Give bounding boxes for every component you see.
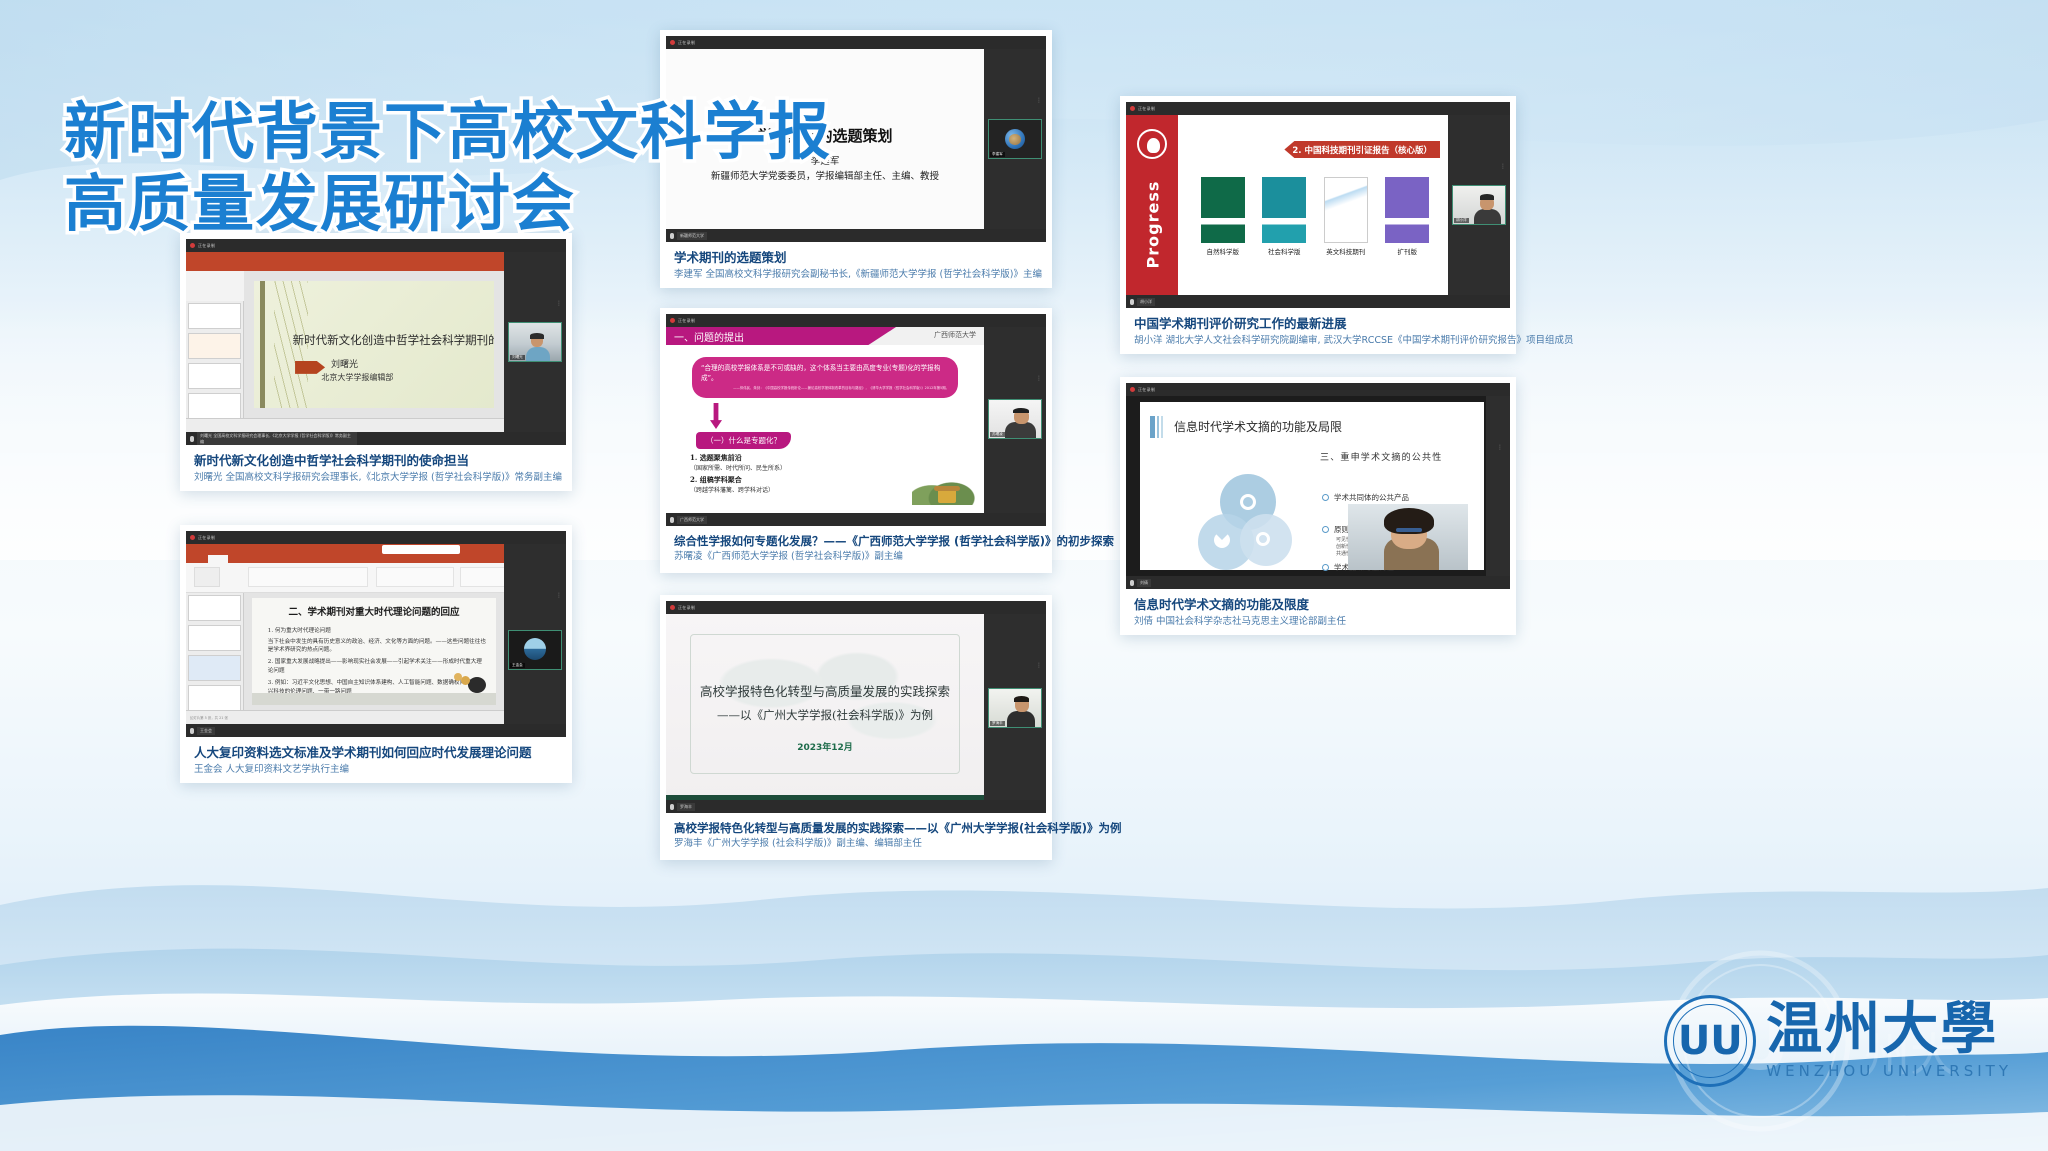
radio-icon [1322,494,1329,501]
ppt-ime-toolbar [382,545,460,554]
shared-screen-1: 新时代新文化创造中哲学社会科学期刊的使命担当 刘曙光 北京大学学报编辑部 [186,252,504,432]
participant-panel-2[interactable]: ⋮ 李建军 [984,49,1046,229]
person-body [1474,209,1501,224]
avatar [1005,129,1025,149]
host-chip-4: 广西师范大学 [677,516,707,524]
participant-tile-7[interactable]: 罗海丰 [988,688,1042,728]
slide-heading-3: 2. 中国科技期刊引证报告（核心版） [1284,141,1440,158]
card-title-1: 新时代新文化创造中哲学社会科学期刊的使命担当 [194,453,558,469]
card-subtitle-7: 罗海丰《广州大学学报 (社会科学版)》副主编、编辑部主任 [674,838,1038,851]
logo-text-block: 温州大學 WENZHOU UNIVERSITY [1766,1002,2012,1080]
host-chip-5: 刘倩 [1137,579,1151,587]
ppt-slide-canvas-1: 新时代新文化创造中哲学社会科学期刊的使命担当 刘曙光 北京大学学报编辑部 [244,271,504,418]
shared-screen-4: 一、问题的提出 广西师范大学 “合理的高校学报体系是不可或缺的，这个体系当主要由… [666,327,984,513]
ppt-thumb[interactable] [188,333,241,359]
powerpoint-window-6: 二、学术期刊对重大时代理论问题的回应 1. 何为重大时代理论问题 当下社会中发生… [186,544,504,724]
recording-dot-icon [670,605,675,610]
seal-initials: UU [1678,1021,1743,1061]
participant-name-6: 王金会 [510,663,525,668]
session-card-7[interactable]: 正在录制 高校学报特色化转型与高质量发展的实践探索 ——以《广州大学学报(社会科… [660,595,1052,860]
bullet-text: 当下社会中发生的具有历史意义的政治、经济、文化等方面的问题。——这些问题往往也是… [268,638,486,655]
zoom-screenshot-7[interactable]: 正在录制 高校学报特色化转型与高质量发展的实践探索 ——以《广州大学学报(社会科… [666,601,1046,813]
zoom-stage: 高校学报特色化转型与高质量发展的实践探索 ——以《广州大学学报(社会科学版)》为… [666,614,1046,800]
microphone-icon [1130,580,1134,586]
card-caption-4: 综合性学报如何专题化发展？——《广西师范大学学报 (哲学社会科学版)》的初步探索… [666,526,1046,574]
shared-screen-7: 高校学报特色化转型与高质量发展的实践探索 ——以《广州大学学报(社会科学版)》为… [666,614,984,800]
recording-dot-icon [190,243,195,248]
shared-screen-3: Progress 2. 中国科技期刊引证报告（核心版） 自然科学版 社会科学版 [1126,115,1448,295]
session-card-3[interactable]: 正在录制 Progress 2. 中国科技期刊引证报告（核心版） 自然科 [1120,96,1516,354]
host-chip-3: 胡小洋 [1137,298,1155,306]
ppt-status-text: 幻灯片第 5 张，共 21 张 [190,715,228,720]
bullet-1: 学术共同体的公共产品 [1322,492,1409,503]
card-caption-7: 高校学报特色化转型与高质量发展的实践探索——以《广州大学学报(社会科学版)》为例… [666,813,1046,861]
journal-covers: 自然科学版 社会科学版 英文科技期刊 扩刊版 [1192,177,1438,256]
zoom-stage: Progress 2. 中国科技期刊引证报告（核心版） 自然科学版 社会科学版 [1126,115,1510,295]
bullet-text: 1. 何为重大时代理论问题 [268,626,486,634]
ppt-thumb[interactable] [188,655,241,681]
zoom-screenshot-6[interactable]: 正在录制 [186,531,566,737]
card-subtitle-6: 王金会 人大复印资料文艺学执行主编 [194,764,558,777]
journal-label: 社会科学版 [1262,246,1306,256]
recording-label: 正在录制 [1138,387,1155,393]
slide-subheading-7: ——以《广州大学学报(社会科学版)》为例 [666,707,984,723]
ppt-slide-canvas-6: 二、学术期刊对重大时代理论问题的回应 1. 何为重大时代理论问题 当下社会中发生… [244,593,504,710]
more-options-icon[interactable]: ⋮ [1497,444,1503,451]
pavilion-illustration [912,471,978,505]
card-subtitle-3: 胡小洋 湖北大学人文社会科学研究院副编审, 武汉大学RCCSE《中国学术期刊评价… [1134,335,1502,348]
title-line-1: 新时代背景下高校文科学报 [64,96,832,168]
recording-label: 正在录制 [678,605,695,611]
more-options-icon[interactable]: ⋮ [1036,375,1042,382]
session-card-5[interactable]: 正在录制 信息时代学术文摘的功能及局限 三、重申学术文摘的公共性 [1120,377,1516,635]
more-options-icon[interactable]: ⋮ [556,300,562,307]
participant-tile-1[interactable]: 刘曙光 [508,322,562,362]
ppt-ribbon-tabs[interactable] [186,555,504,563]
recording-dot-icon [190,535,195,540]
zoom-recording-bar: 正在录制 [666,36,1046,49]
card-subtitle-4: 苏曙凌《广西师范大学学报 (哲学社会科学版)》副主编 [674,551,1038,564]
card-caption-6: 人大复印资料选文标准及学术期刊如何回应时代发展理论问题 王金会 人大复印资料文艺… [186,737,566,786]
participant-name-4: 苏曙凌 [990,432,1005,437]
ppt-titlebar [186,252,504,263]
slide-speaker-1: 刘曙光 [331,357,358,370]
university-name-en: WENZHOU UNIVERSITY [1766,1062,2012,1080]
participant-tile-2[interactable]: 李建军 [988,119,1042,159]
point-label: 1. 选题聚焦前沿 [690,453,786,463]
card-caption-3: 中国学术期刊评价研究工作的最新进展 胡小洋 湖北大学人文社会科学研究院副编审, … [1126,308,1510,357]
participant-panel-1[interactable]: ⋮ 刘曙光 [504,252,566,432]
gear-icon [1240,494,1256,510]
magenta-slide-4: 一、问题的提出 广西师范大学 “合理的高校学报体系是不可或缺的，这个体系当主要由… [666,327,984,513]
slide-quote-4: “合理的高校学报体系是不可或缺的，这个体系当主要由高度专业(专题)化的学报构成”… [692,357,958,398]
journal-label: 英文科技期刊 [1324,246,1368,256]
shared-screen-6: 二、学术期刊对重大时代理论问题的回应 1. 何为重大时代理论问题 当下社会中发生… [186,544,504,724]
card-title-3: 中国学术期刊评价研究工作的最新进展 [1134,316,1502,332]
zoom-bottom-bar-6: 王金会 [186,724,566,737]
card-subtitle-5: 刘倩 中国社会科学杂志社马克思主义理论部副主任 [1134,616,1502,629]
zoom-screenshot-1[interactable]: 正在录制 [186,239,566,445]
ppt-thumb[interactable] [188,363,241,389]
zoom-screenshot-3[interactable]: 正在录制 Progress 2. 中国科技期刊引证报告（核心版） 自然科 [1126,102,1510,308]
microphone-icon [670,804,674,810]
zoom-recording-bar: 正在录制 [186,239,566,252]
map-title-slide-7: 高校学报特色化转型与高质量发展的实践探索 ——以《广州大学学报(社会科学版)》为… [666,614,984,800]
microphone-icon [670,517,674,523]
participant-name-3: 胡小洋 [1454,218,1469,223]
participant-panel-3[interactable]: ⋮ 胡小洋 [1448,115,1510,295]
zoom-recording-bar: 正在录制 [1126,383,1510,396]
journal-cover: 自然科学版 [1201,177,1245,256]
microphone-icon [190,728,194,734]
avatar [524,638,546,660]
bullet-text: 学术共同体的公共产品 [1334,492,1409,503]
blue-slide-5: 信息时代学术文摘的功能及局限 三、重申学术文摘的公共性 学术共同体的公共产品 [1140,402,1484,570]
point-label: 2. 组稿学科聚合 [690,475,774,485]
ppt-ribbon[interactable] [186,563,504,593]
zoom-stage: 二、学术期刊对重大时代理论问题的回应 1. 何为重大时代理论问题 当下社会中发生… [186,544,566,724]
venn-illustration [1198,474,1288,564]
card-title-7: 高校学报特色化转型与高质量发展的实践探索——以《广州大学学报(社会科学版)》为例 [674,821,1038,835]
session-card-1[interactable]: 正在录制 [180,233,572,491]
slide-heading-4: 一、问题的提出 [666,327,896,345]
slide-point-1: 1. 选题聚焦前沿 （国家所需、时代所问、民生所系） [690,453,786,472]
person-body [1007,711,1035,727]
ppt-titlebar [186,544,504,555]
recording-label: 正在录制 [198,535,215,541]
recording-dot-icon [1130,387,1135,392]
more-options-icon[interactable]: ⋮ [1036,97,1042,104]
slide-affiliation-1: 北京大学学报编辑部 [321,372,393,383]
poster-title: 新时代背景下高校文科学报 高质量发展研讨会 [64,96,832,240]
slide-heading-6: 二、学术期刊对重大时代理论问题的回应 [252,604,496,618]
slide-point-2: 2. 组稿学科聚合 （跨越学科藩篱、跨学科对话） [690,475,774,494]
wenzhou-university-logo: UU 温州大學 WENZHOU UNIVERSITY [1664,995,2012,1087]
journal-label: 自然科学版 [1201,246,1245,256]
ppt-thumb[interactable] [188,625,241,651]
participant-name-1: 刘曙光 [510,355,525,360]
zoom-bottom-bar-7: 罗海丰 [666,800,1046,813]
zoom-recording-bar: 正在录制 [186,531,566,544]
slide-subheading-4: （一）什么是专题化？ [696,432,791,449]
university-logo-4: 广西师范大学 [934,330,976,340]
card-title-5: 信息时代学术文摘的功能及限度 [1134,597,1502,613]
gear-icon [1256,532,1270,546]
more-options-icon[interactable]: ⋮ [1036,662,1042,669]
journal-label: 扩刊版 [1385,246,1429,256]
shared-screen-5: 信息时代学术文摘的功能及局限 三、重申学术文摘的公共性 学术共同体的公共产品 [1126,396,1486,576]
recording-label: 正在录制 [1138,106,1155,112]
title-line-2: 高质量发展研讨会 [64,168,832,240]
progress-label: Progress [1144,170,1163,280]
slide-section-5: 三、重申学术文摘的公共性 [1320,450,1442,463]
card-caption-2: 学术期刊的选题策划 李建军 全国高校文科学报研究会副秘书长,《新疆师范大学学报 … [666,242,1046,291]
participant-panel-7[interactable]: ⋮ 罗海丰 [984,614,1046,800]
quote-text: “合理的高校学报体系是不可或缺的，这个体系当主要由高度专业(专题)化的学报构成”… [701,364,949,383]
teapot-illustration [452,671,486,693]
recording-dot-icon [1130,106,1135,111]
journal-cover: 社会科学版 [1262,177,1306,256]
zoom-stage: 信息时代学术文摘的功能及局限 三、重申学术文摘的公共性 学术共同体的公共产品 [1126,396,1510,576]
ppt-ribbon-tabs [186,263,504,271]
journal-cover: 扩刊版 [1385,177,1429,256]
ppt-thumb[interactable] [188,303,241,329]
participant-panel-4[interactable]: ⋮ 苏曙凌 [984,327,1046,513]
card-title-4: 综合性学报如何专题化发展？——《广西师范大学学报 (哲学社会科学版)》的初步探索 [674,534,1038,548]
ppt-thumb[interactable] [188,393,241,419]
recording-dot-icon [670,318,675,323]
card-caption-1: 新时代新文化创造中哲学社会科学期刊的使命担当 刘曙光 全国高校文科学报研究会理事… [186,445,566,494]
card-title-6: 人大复印资料选文标准及学术期刊如何回应时代发展理论问题 [194,745,558,761]
card-subtitle-2: 李建军 全国高校文科学报研究会副秘书长,《新疆师范大学学报 (哲学社会科学版)》… [674,269,1038,282]
microphone-icon [190,436,194,442]
progress-sidebar: Progress [1126,115,1178,295]
zoom-bottom-bar-3: 胡小洋 [1126,295,1510,308]
zoom-recording-bar: 正在录制 [1126,102,1510,115]
zoom-recording-bar: 正在录制 [666,601,1046,614]
brain-gear-icon [1137,129,1167,159]
ppt-slide-thumbnails[interactable] [186,301,244,418]
participant-panel-6[interactable]: ⋮ 王金会 [504,544,566,724]
zoom-stage: 一、问题的提出 广西师范大学 “合理的高校学报体系是不可或缺的，这个体系当主要由… [666,327,1046,513]
ppt-statusbar: 幻灯片第 5 张，共 21 张 [186,710,504,724]
zoom-bottom-bar-4: 广西师范大学 [666,513,1046,526]
host-chip-6: 王金会 [197,727,215,735]
participant-tile-3[interactable]: 胡小洋 [1452,185,1506,225]
zoom-stage: 新时代新文化创造中哲学社会科学期刊的使命担当 刘曙光 北京大学学报编辑部 ⋮ [186,252,566,432]
zoom-bottom-bar-5: 刘倩 [1126,576,1510,589]
session-card-4[interactable]: 正在录制 一、问题的提出 广西师范大学 “合理的高校学报体系是不可或缺的，这个体… [660,308,1052,573]
ppt-thumb[interactable] [188,685,241,711]
university-name-cn: 温州大學 [1766,1002,2012,1058]
quote-source: ——仲伟民、朱剑：《中国高校学报传统析论——兼论高校学报体制改革的目标与路径》，… [701,386,949,391]
participant-tile-4[interactable]: 苏曙凌 [988,399,1042,439]
ppt-slide-thumbnails[interactable] [186,593,244,710]
slide-date-7: 2023年12月 [666,740,984,753]
zoom-screenshot-5[interactable]: 正在录制 信息时代学术文摘的功能及局限 三、重申学术文摘的公共性 [1126,383,1510,589]
more-options-icon[interactable]: ⋮ [556,592,562,599]
host-chip-1: 刘曙光 全国高校文科学报研究会理事长,《北京大学学报 (哲学社会科学版)》常务副… [197,432,357,446]
zoom-bottom-bar-1: 刘曙光 全国高校文科学报研究会理事长,《北京大学学报 (哲学社会科学版)》常务副… [186,432,566,445]
slide-heading-1: 新时代新文化创造中哲学社会科学期刊的使命担当 [293,332,494,348]
person-body [526,347,550,361]
host-chip-7: 罗海丰 [677,803,695,811]
radio-icon [1322,526,1329,533]
slide-heading-5: 信息时代学术文摘的功能及局限 [1174,418,1342,435]
ppt-thumb[interactable] [188,595,241,621]
recording-dot-icon [670,40,675,45]
point-detail: （国家所需、时代所问、民生所系） [690,463,786,472]
participant-panel-5[interactable]: ⋮ [1486,396,1510,576]
powerpoint-window-1: 新时代新文化创造中哲学社会科学期刊的使命担当 刘曙光 北京大学学报编辑部 [186,252,504,432]
card-title-2: 学术期刊的选题策划 [674,250,1038,266]
university-seal-icon: UU [1664,995,1756,1087]
session-card-6[interactable]: 正在录制 [180,525,572,783]
card-subtitle-1: 刘曙光 全国高校文科学报研究会理事长,《北京大学学报 (哲学社会科学版)》常务副… [194,472,558,485]
recording-label: 正在录制 [678,318,695,324]
recording-label: 正在录制 [678,40,695,46]
participant-name-2: 李建军 [990,152,1005,157]
zoom-recording-bar: 正在录制 [666,314,1046,327]
zoom-screenshot-4[interactable]: 正在录制 一、问题的提出 广西师范大学 “合理的高校学报体系是不可或缺的，这个体… [666,314,1046,526]
radio-icon [1322,564,1329,571]
more-options-icon[interactable]: ⋮ [1500,163,1506,170]
ppt-statusbar [186,418,504,432]
participant-tile-6[interactable]: 王金会 [508,630,562,670]
title-accent-bars [1150,416,1163,438]
recording-label: 正在录制 [198,243,215,249]
journal-cover: 英文科技期刊 [1324,177,1368,256]
participant-name-7: 罗海丰 [990,721,1005,726]
down-arrow-icon [710,403,722,429]
progress-slide-3: Progress 2. 中国科技期刊引证报告（核心版） 自然科学版 社会科学版 [1126,115,1448,295]
participant-video-inset[interactable] [1348,504,1468,570]
slide-heading-7: 高校学报特色化转型与高质量发展的实践探索 [666,681,984,700]
point-detail: （跨越学科藩篱、跨学科对话） [690,485,774,494]
card-caption-5: 信息时代学术文摘的功能及限度 刘倩 中国社会科学杂志社马克思主义理论部副主任 [1126,589,1510,638]
microphone-icon [1130,299,1134,305]
person-body [1005,422,1036,438]
